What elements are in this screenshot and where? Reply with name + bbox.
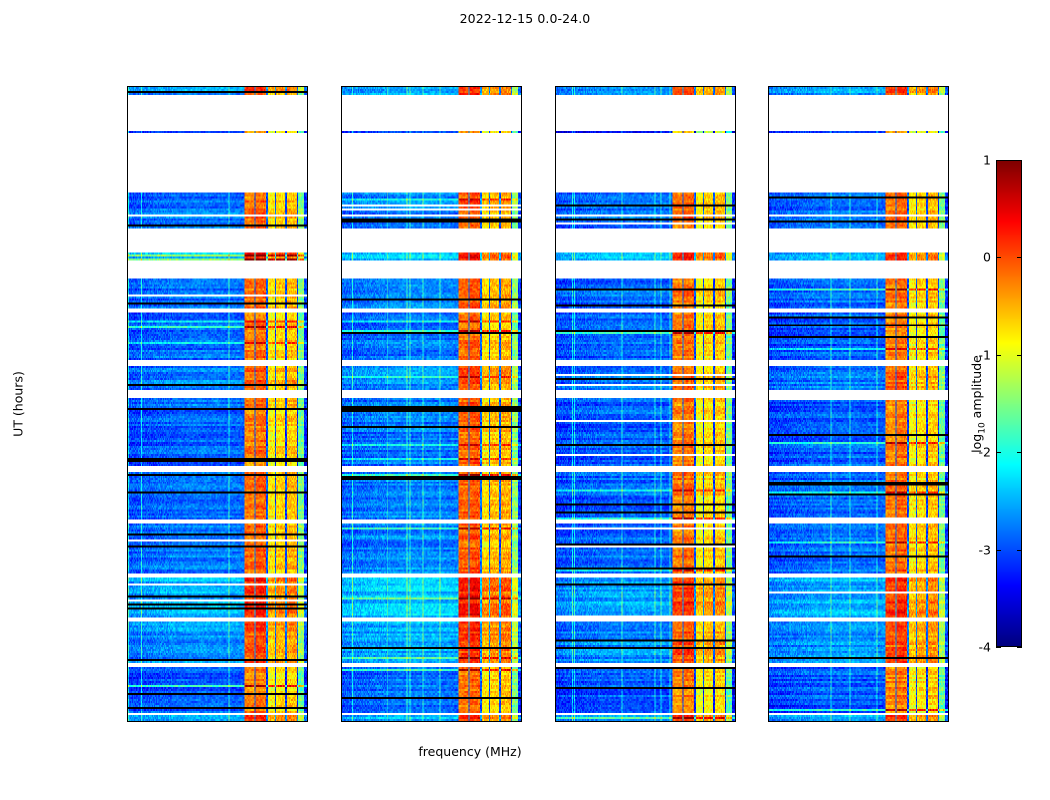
colorbar-tick [996, 550, 1001, 551]
y-axis-tick [735, 179, 736, 180]
colorbar-tick [1017, 257, 1022, 258]
colorbar-tick [996, 452, 1001, 453]
y-axis-tick [341, 315, 342, 316]
x-axis-tick [775, 86, 776, 87]
x-axis-tick [731, 721, 732, 722]
colorbar-tick [996, 647, 1001, 648]
x-axis-tick [860, 721, 861, 722]
colorbar-tick [1017, 160, 1022, 161]
x-axis-tick [303, 721, 304, 722]
colorbar-tick [996, 257, 1001, 258]
x-axis-tick [390, 721, 391, 722]
y-axis-tick [948, 315, 949, 316]
y-axis-tick [341, 179, 342, 180]
x-axis-tick [689, 86, 690, 87]
y-axis-tick [948, 587, 949, 588]
colorbar-tick [996, 355, 1001, 356]
colorbar-tick [1017, 452, 1022, 453]
y-axis-tick [307, 587, 308, 588]
y-axis-label: UT (hours) [11, 371, 26, 437]
panel-yx-image [769, 87, 948, 721]
x-axis-tick [647, 721, 648, 722]
x-axis-tick [902, 86, 903, 87]
x-axis-label: frequency (MHz) [0, 744, 940, 759]
y-axis-tick [555, 451, 556, 452]
x-axis-tick [433, 86, 434, 87]
x-axis-tick [134, 721, 135, 722]
x-axis-tick [176, 721, 177, 722]
y-axis-tick [735, 587, 736, 588]
y-axis-tick [555, 315, 556, 316]
y-axis-tick [307, 315, 308, 316]
y-axis-tick [521, 179, 522, 180]
x-axis-tick [775, 721, 776, 722]
panel-xy[interactable]: XY, V11*V14=EA26*EA093203353503653800510… [555, 86, 736, 722]
y-axis-tick [948, 451, 949, 452]
y-axis-tick [768, 315, 769, 316]
x-axis-tick [604, 721, 605, 722]
panel-xy-image [556, 87, 735, 721]
x-axis-tick [562, 721, 563, 722]
colorbar-tick [1017, 355, 1022, 356]
x-axis-tick [475, 721, 476, 722]
colorbar-tick-label: -3 [979, 542, 991, 557]
panel-yy[interactable]: YY, V11*V14=EA26*EA093203353503653800510… [341, 86, 522, 722]
x-axis-tick [944, 721, 945, 722]
x-axis-tick [261, 86, 262, 87]
x-axis-tick [134, 86, 135, 87]
colorbar-tick [1017, 550, 1022, 551]
x-axis-tick [348, 86, 349, 87]
colorbar-tick-label: 0 [983, 250, 991, 265]
colorbar-label: log10 amplitude [969, 355, 988, 453]
colorbar-gradient [996, 160, 1022, 647]
y-axis-tick [307, 451, 308, 452]
y-axis-tick [768, 451, 769, 452]
x-axis-tick [517, 721, 518, 722]
panel-xx[interactable]: XX, V11*V14=EA26*EA093203353503653800510… [127, 86, 308, 722]
colorbar-tick [1017, 647, 1022, 648]
y-axis-tick [768, 179, 769, 180]
x-axis-tick [517, 86, 518, 87]
x-axis-tick [303, 86, 304, 87]
y-axis-tick [768, 587, 769, 588]
colorbar: -4-3-2-101 [996, 160, 1022, 647]
x-axis-tick [817, 86, 818, 87]
x-axis-tick [731, 86, 732, 87]
y-axis-tick [127, 587, 128, 588]
x-axis-tick [475, 86, 476, 87]
x-axis-tick [176, 86, 177, 87]
x-axis-tick [219, 86, 220, 87]
x-axis-tick [348, 721, 349, 722]
panel-yx[interactable]: YX, V11*V14=EA26*EA093203353503653800510… [768, 86, 949, 722]
colorbar-tick-label: 1 [983, 153, 991, 168]
x-axis-tick [604, 86, 605, 87]
colorbar-tick [996, 160, 1001, 161]
y-axis-tick [341, 587, 342, 588]
x-axis-tick [433, 721, 434, 722]
x-axis-tick [647, 86, 648, 87]
x-axis-tick [860, 86, 861, 87]
figure-suptitle: 2022-12-15 0.0-24.0 [0, 11, 1050, 26]
y-axis-tick [521, 451, 522, 452]
x-axis-tick [390, 86, 391, 87]
x-axis-tick [261, 721, 262, 722]
y-axis-tick [127, 315, 128, 316]
y-axis-tick [948, 179, 949, 180]
y-axis-tick [127, 451, 128, 452]
figure-canvas: 2022-12-15 0.0-24.0 XX, V11*V14=EA26*EA0… [0, 0, 1050, 800]
y-axis-tick [521, 315, 522, 316]
x-axis-tick [817, 721, 818, 722]
x-axis-tick [562, 86, 563, 87]
x-axis-tick [902, 721, 903, 722]
x-axis-tick [689, 721, 690, 722]
y-axis-tick [555, 587, 556, 588]
y-axis-tick [735, 315, 736, 316]
y-axis-tick [555, 179, 556, 180]
y-axis-tick [735, 451, 736, 452]
y-axis-tick [341, 451, 342, 452]
y-axis-tick [307, 179, 308, 180]
y-axis-tick [127, 179, 128, 180]
x-axis-tick [219, 721, 220, 722]
panel-yy-image [342, 87, 521, 721]
y-axis-tick [521, 587, 522, 588]
x-axis-tick [944, 86, 945, 87]
panel-xx-image [128, 87, 307, 721]
colorbar-tick-label: -4 [979, 640, 991, 655]
